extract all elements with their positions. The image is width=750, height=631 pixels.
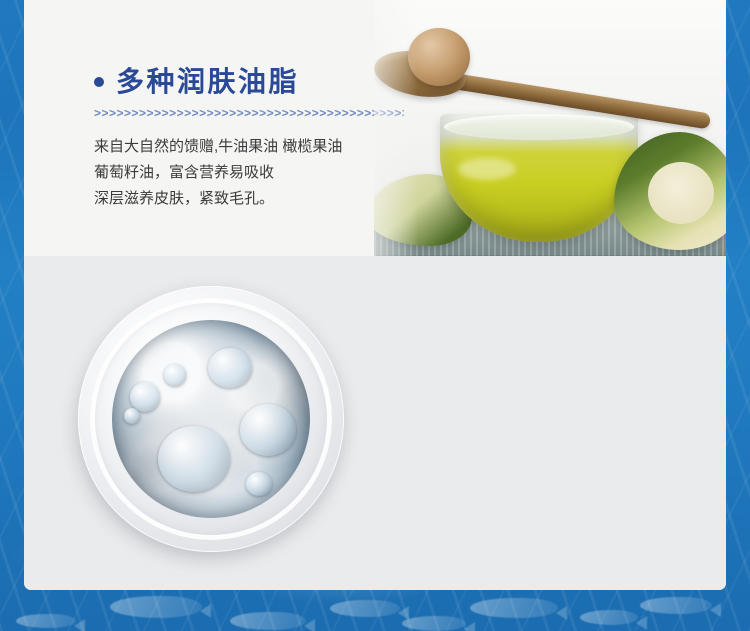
fish-silhouette [110,596,202,618]
avocado-pit [408,28,470,86]
water-droplet [158,426,230,492]
section-1-text-block: 多种润肤油脂 >>>>>>>>>>>>>>>>>>>>>>>>>>>>>>>>>… [94,68,404,211]
fish-silhouette [580,610,638,625]
water-droplet [164,364,186,386]
section-1-divider: >>>>>>>>>>>>>>>>>>>>>>>>>>>>>>>>>>>>>>>>… [94,107,404,119]
fish-silhouette [230,612,306,630]
fish-silhouette [640,597,712,614]
product-detail-page: 多种润肤油脂 >>>>>>>>>>>>>>>>>>>>>>>>>>>>>>>>>… [0,0,750,631]
section-1-body: 来自大自然的馈赠,牛油果油 橄榄果油 葡萄籽油，富含营养易吸收 深层滋养皮肤，紧… [94,134,404,211]
glass-jar [78,286,344,552]
section-1-heading: 多种润肤油脂 [94,68,404,96]
section-sodium-hyaluronate: 透明质酸钠 >>>>>>>>>>>>>>>>>>>>>>>>>>>>>>>>>>… [24,256,726,590]
fish-silhouette [16,614,76,628]
bullet-dot-icon [94,77,104,87]
section-moisturizing-oils: 多种润肤油脂 >>>>>>>>>>>>>>>>>>>>>>>>>>>>>>>>>… [24,0,726,256]
water-droplet [124,408,140,424]
water-droplet [246,472,272,496]
water-droplet [240,404,296,456]
hyaluronic-gel [112,320,310,518]
fish-silhouette [470,598,558,618]
section-1-title: 多种润肤油脂 [116,68,299,96]
jar-photo [50,268,362,568]
content-card: 多种润肤油脂 >>>>>>>>>>>>>>>>>>>>>>>>>>>>>>>>>… [24,0,726,590]
fish-silhouette [330,600,400,617]
water-droplet [208,348,252,388]
fish-silhouette [402,616,466,631]
oil-photo [374,0,726,256]
